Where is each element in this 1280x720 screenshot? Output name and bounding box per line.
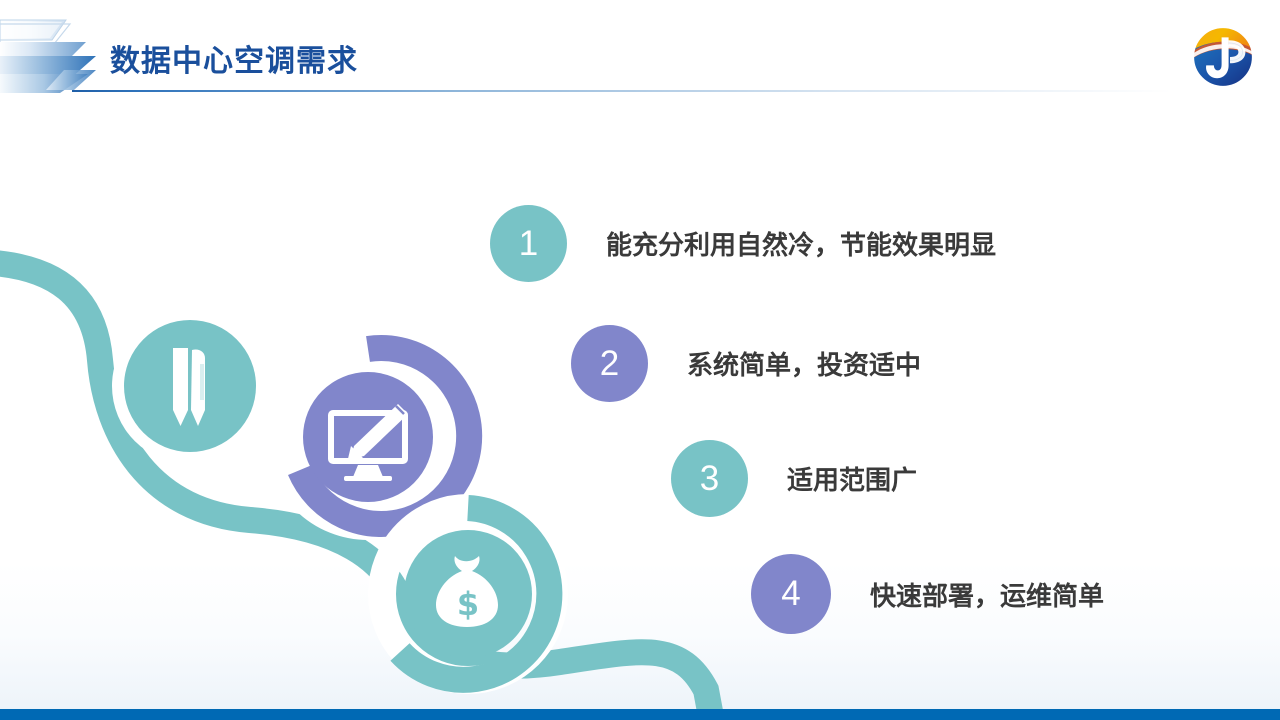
- bullet-item-4[interactable]: 4 快速部署，运维简单: [751, 554, 1104, 634]
- bullet-text-3: 适用范围广: [787, 460, 917, 497]
- bullet-text-4: 快速部署，运维简单: [870, 576, 1104, 613]
- bullet-list: 1 能充分利用自然冷，节能效果明显 2 系统简单，投资适中 3 适用范围广 4 …: [0, 0, 1280, 720]
- bullet-number-2: 2: [571, 325, 648, 402]
- slide-canvas: 数据中心空调需求: [0, 0, 1280, 720]
- bullet-item-1[interactable]: 1 能充分利用自然冷，节能效果明显: [490, 205, 996, 282]
- bullet-text-1: 能充分利用自然冷，节能效果明显: [606, 225, 996, 262]
- bullet-text-2: 系统简单，投资适中: [687, 345, 921, 382]
- bullet-item-2[interactable]: 2 系统简单，投资适中: [571, 325, 921, 402]
- bullet-number-4: 4: [751, 554, 831, 634]
- bullet-number-3: 3: [671, 440, 748, 517]
- bullet-item-3[interactable]: 3 适用范围广: [671, 440, 917, 517]
- footer-bar: [0, 709, 1280, 720]
- bullet-number-1: 1: [490, 205, 567, 282]
